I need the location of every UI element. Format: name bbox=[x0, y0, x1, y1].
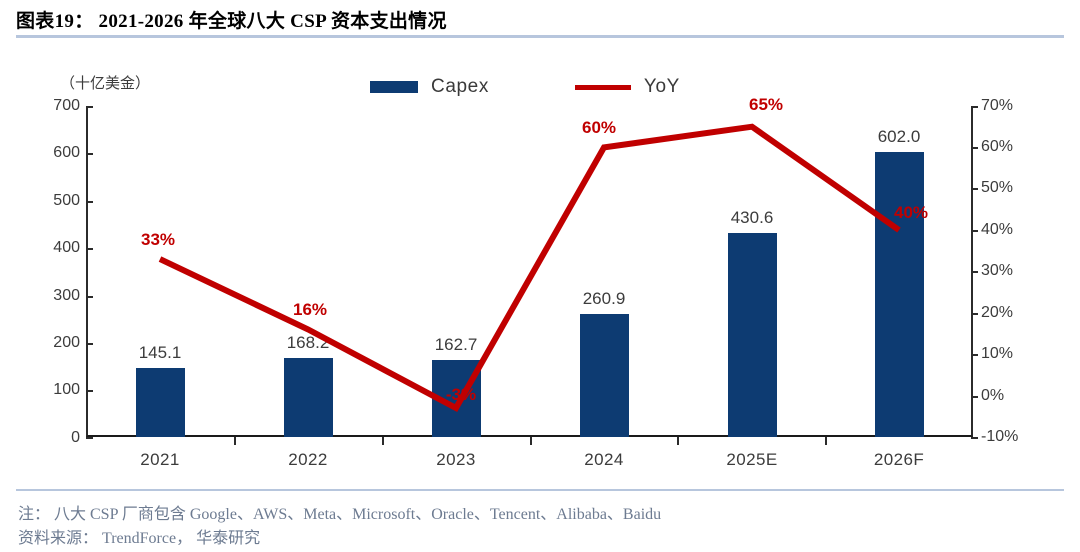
y-axis-left-tickmark bbox=[86, 390, 93, 392]
bar-2025e[interactable] bbox=[728, 233, 777, 437]
y-axis-left-tick: 0 bbox=[22, 429, 80, 447]
x-axis-label-2022: 2022 bbox=[288, 450, 327, 470]
x-axis-tickmark bbox=[825, 437, 827, 445]
x-axis-label-2026f: 2026F bbox=[874, 450, 924, 470]
y-axis-right-tick: 0% bbox=[981, 387, 1043, 405]
y-axis-left-tickmark bbox=[86, 201, 93, 203]
bar-2022[interactable] bbox=[284, 358, 333, 438]
x-axis-tickmark bbox=[234, 437, 236, 445]
x-axis-label-2025e: 2025E bbox=[726, 450, 777, 470]
yoy-value-label: 16% bbox=[293, 300, 327, 320]
y-axis-right-tick: 40% bbox=[981, 221, 1043, 239]
y-axis-right-tickmark bbox=[971, 147, 978, 149]
yoy-value-label: 60% bbox=[582, 118, 616, 138]
legend-item-capex[interactable]: Capex bbox=[370, 76, 489, 98]
bar-value-label: 145.1 bbox=[139, 343, 182, 363]
y-axis-left-tickmark bbox=[86, 343, 93, 345]
x-axis-tickmark bbox=[530, 437, 532, 445]
bar-value-label: 162.7 bbox=[435, 335, 478, 355]
bar-value-label: 260.9 bbox=[583, 289, 626, 309]
x-axis-tickmark bbox=[677, 437, 679, 445]
y-axis-left-tick: 100 bbox=[22, 381, 80, 399]
y-axis-left-tick: 700 bbox=[22, 97, 80, 115]
y-axis-right-tick: 20% bbox=[981, 304, 1043, 322]
yoy-value-label: 40% bbox=[894, 203, 928, 223]
x-axis-label-2021: 2021 bbox=[140, 450, 179, 470]
y-axis-left: 700 600 500 400 300 200 100 0 bbox=[12, 40, 80, 485]
y-axis-right-tickmark bbox=[971, 106, 978, 108]
bar-value-label: 168.2 bbox=[287, 333, 330, 353]
yoy-value-label: -3% bbox=[446, 385, 476, 405]
legend-label-capex: Capex bbox=[431, 76, 489, 98]
y-axis-left-tick: 500 bbox=[22, 192, 80, 210]
y-axis-left-tick: 300 bbox=[22, 287, 80, 305]
y-axis-left-tick: 200 bbox=[22, 334, 80, 352]
y-axis-right-tick: 50% bbox=[981, 179, 1043, 197]
y-axis-right-tickmark bbox=[971, 188, 978, 190]
bar-2026f[interactable] bbox=[875, 152, 924, 437]
bar-2024[interactable] bbox=[580, 314, 629, 437]
y-axis-right-tickmark bbox=[971, 354, 978, 356]
y-axis-right-tick: -10% bbox=[981, 428, 1043, 446]
y-axis-right-tickmark bbox=[971, 313, 978, 315]
y-axis-right-tick: 70% bbox=[981, 97, 1043, 115]
x-axis-label-2023: 2023 bbox=[436, 450, 475, 470]
y-axis-left-tick: 600 bbox=[22, 144, 80, 162]
page-title: 图表19： 2021-2026 年全球八大 CSP 资本支出情况 bbox=[16, 6, 447, 33]
y-axis-right-tickmark bbox=[971, 396, 978, 398]
y-axis-right-tick: 10% bbox=[981, 345, 1043, 363]
header-divider bbox=[16, 35, 1064, 38]
legend-item-yoy[interactable]: YoY bbox=[575, 76, 680, 98]
chart-canvas: （十亿美金） Capex YoY 700 600 500 400 300 200… bbox=[0, 40, 1080, 485]
y-axis-right: 70% 60% 50% 40% 30% 20% 10% 0% -10% bbox=[981, 40, 1077, 485]
bar-2021[interactable] bbox=[136, 368, 185, 437]
plot-frame bbox=[86, 106, 973, 437]
y-axis-right-tick: 30% bbox=[981, 262, 1043, 280]
yoy-value-label: 65% bbox=[749, 95, 783, 115]
y-axis-left-tickmark bbox=[86, 248, 93, 250]
y-axis-right-tickmark bbox=[971, 230, 978, 232]
y-axis-left-tickmark bbox=[86, 106, 93, 108]
x-axis-label-2024: 2024 bbox=[584, 450, 623, 470]
chart-legend: Capex YoY bbox=[370, 76, 680, 98]
y-axis-right-tickmark bbox=[971, 437, 978, 439]
legend-label-yoy: YoY bbox=[644, 76, 680, 98]
x-axis-tickmark bbox=[382, 437, 384, 445]
chart-note: 注： 八大 CSP 厂商包含 Google、AWS、Meta、Microsoft… bbox=[18, 500, 661, 524]
legend-swatch-capex-icon bbox=[370, 81, 418, 93]
chart-source: 资料来源： TrendForce， 华泰研究 bbox=[18, 524, 260, 548]
yoy-value-label: 33% bbox=[141, 230, 175, 250]
y-axis-right-tickmark bbox=[971, 271, 978, 273]
figure-header: 图表19： 2021-2026 年全球八大 CSP 资本支出情况 bbox=[0, 0, 1080, 40]
bar-value-label: 430.6 bbox=[731, 208, 774, 228]
footer-divider bbox=[16, 489, 1064, 491]
y-axis-left-tickmark bbox=[86, 437, 93, 439]
bar-value-label: 602.0 bbox=[878, 127, 921, 147]
y-axis-left-tickmark bbox=[86, 296, 93, 298]
y-axis-left-tickmark bbox=[86, 153, 93, 155]
y-axis-right-tick: 60% bbox=[981, 138, 1043, 156]
legend-swatch-yoy-icon bbox=[575, 85, 631, 90]
y-axis-left-tick: 400 bbox=[22, 239, 80, 257]
